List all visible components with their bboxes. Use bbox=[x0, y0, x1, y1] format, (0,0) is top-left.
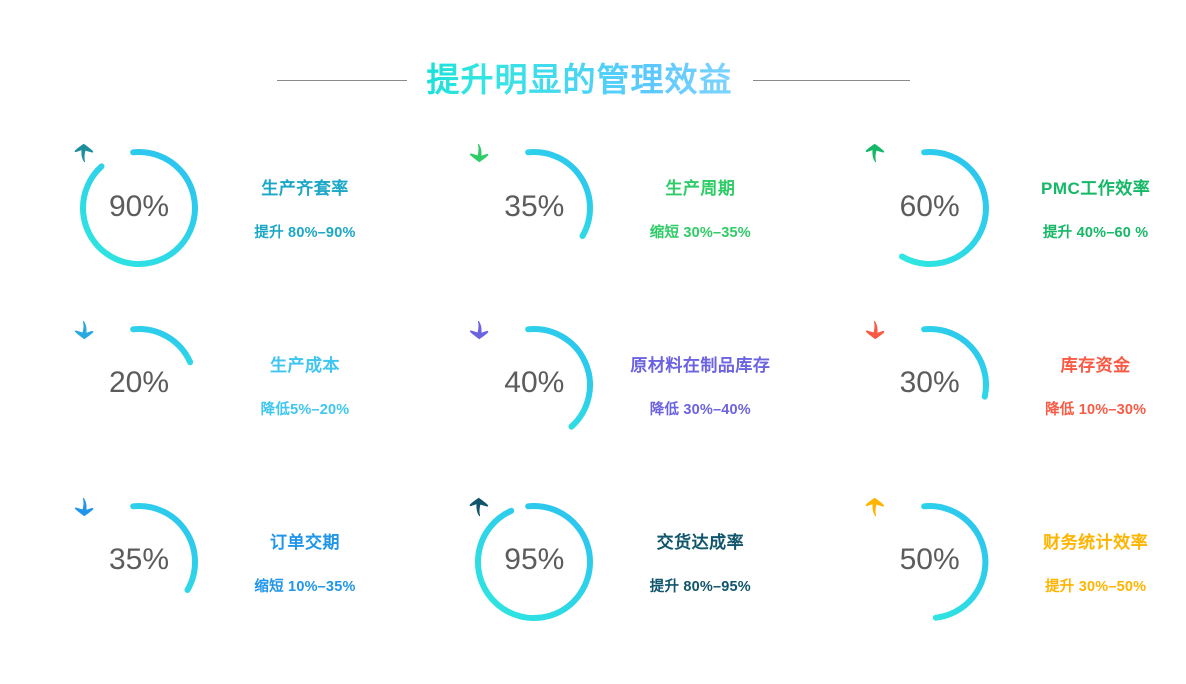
metric-text-delivery-achievement-rate: 交货达成率提升 80%–95% bbox=[625, 528, 775, 596]
donut-gauge-production-cycle: 35% bbox=[469, 143, 599, 273]
metric-title: 生产周期 bbox=[665, 174, 735, 199]
metric-card-inventory-capital: 30%库存资金降低 10%–30% bbox=[791, 297, 1186, 474]
metrics-grid: 90%生产齐套率提升 80%–90%35%生产周期缩短 30%–35%60%PM… bbox=[0, 120, 1186, 650]
metric-card-financial-statistics-efficiency: 50%财务统计效率提升 30%–50% bbox=[791, 473, 1186, 650]
metric-subtitle: 缩短 30%–35% bbox=[650, 221, 751, 242]
donut-progress-arc bbox=[83, 152, 195, 264]
metric-text-raw-material-wip-inventory: 原材料在制品库存降低 30%–40% bbox=[625, 351, 775, 419]
metric-card-production-kitting-rate: 90%生产齐套率提升 80%–90% bbox=[0, 120, 395, 297]
donut-gauge-production-kitting-rate: 90% bbox=[74, 143, 204, 273]
donut-progress-arc bbox=[924, 329, 986, 397]
metric-subtitle: 降低 10%–30% bbox=[1045, 398, 1146, 419]
metric-title: PMC工作效率 bbox=[1041, 174, 1150, 199]
metric-subtitle: 提升 80%–90% bbox=[254, 221, 355, 242]
donut-progress-arc bbox=[528, 152, 590, 236]
page-title: 提升明显的管理效益 bbox=[427, 60, 733, 100]
metric-subtitle: 提升 40%–60 % bbox=[1043, 221, 1148, 242]
metric-title: 订单交期 bbox=[270, 528, 340, 553]
metric-title: 原材料在制品库存 bbox=[630, 351, 770, 376]
metric-subtitle: 提升 30%–50% bbox=[1045, 575, 1146, 596]
metric-card-production-cycle: 35%生产周期缩短 30%–35% bbox=[395, 120, 790, 297]
metric-title: 生产成本 bbox=[270, 351, 340, 376]
metric-card-production-cost: 20%生产成本降低5%–20% bbox=[0, 297, 395, 474]
donut-gauge-raw-material-wip-inventory: 40% bbox=[469, 320, 599, 450]
donut-progress-arc bbox=[528, 329, 590, 427]
metric-title: 财务统计效率 bbox=[1043, 528, 1148, 553]
donut-progress-arc bbox=[924, 506, 985, 618]
donut-progress-arc bbox=[133, 329, 190, 362]
metric-text-inventory-capital: 库存资金降低 10%–30% bbox=[1021, 351, 1171, 419]
metric-text-production-cycle: 生产周期缩短 30%–35% bbox=[625, 174, 775, 242]
page-header: 提升明显的管理效益 bbox=[0, 56, 1186, 104]
metric-card-order-delivery-period: 35%订单交期缩短 10%–35% bbox=[0, 473, 395, 650]
donut-gauge-pmc-work-efficiency: 60% bbox=[865, 143, 995, 273]
metric-card-delivery-achievement-rate: 95%交货达成率提升 80%–95% bbox=[395, 473, 790, 650]
metric-subtitle: 降低 30%–40% bbox=[650, 398, 751, 419]
header-rule-left bbox=[277, 80, 407, 81]
metric-card-pmc-work-efficiency: 60%PMC工作效率提升 40%–60 % bbox=[791, 120, 1186, 297]
donut-gauge-production-cost: 20% bbox=[74, 320, 204, 450]
header-rule-right bbox=[753, 80, 910, 81]
metric-card-raw-material-wip-inventory: 40%原材料在制品库存降低 30%–40% bbox=[395, 297, 790, 474]
metric-subtitle: 提升 80%–95% bbox=[650, 575, 751, 596]
metric-title: 交货达成率 bbox=[657, 528, 745, 553]
metric-text-order-delivery-period: 订单交期缩短 10%–35% bbox=[230, 528, 380, 596]
donut-gauge-financial-statistics-efficiency: 50% bbox=[865, 497, 995, 627]
donut-progress-arc bbox=[133, 506, 195, 590]
metric-subtitle: 降低5%–20% bbox=[261, 398, 350, 419]
donut-gauge-delivery-achievement-rate: 95% bbox=[469, 497, 599, 627]
donut-gauge-order-delivery-period: 35% bbox=[74, 497, 204, 627]
metric-text-production-cost: 生产成本降低5%–20% bbox=[230, 351, 380, 419]
metric-subtitle: 缩短 10%–35% bbox=[254, 575, 355, 596]
metric-text-financial-statistics-efficiency: 财务统计效率提升 30%–50% bbox=[1021, 528, 1171, 596]
donut-gauge-inventory-capital: 30% bbox=[865, 320, 995, 450]
metric-text-pmc-work-efficiency: PMC工作效率提升 40%–60 % bbox=[1021, 174, 1171, 242]
metric-title: 生产齐套率 bbox=[261, 174, 349, 199]
metric-title: 库存资金 bbox=[1061, 351, 1131, 376]
metric-text-production-kitting-rate: 生产齐套率提升 80%–90% bbox=[230, 174, 380, 242]
donut-progress-arc bbox=[478, 506, 590, 618]
donut-progress-arc bbox=[902, 152, 986, 264]
